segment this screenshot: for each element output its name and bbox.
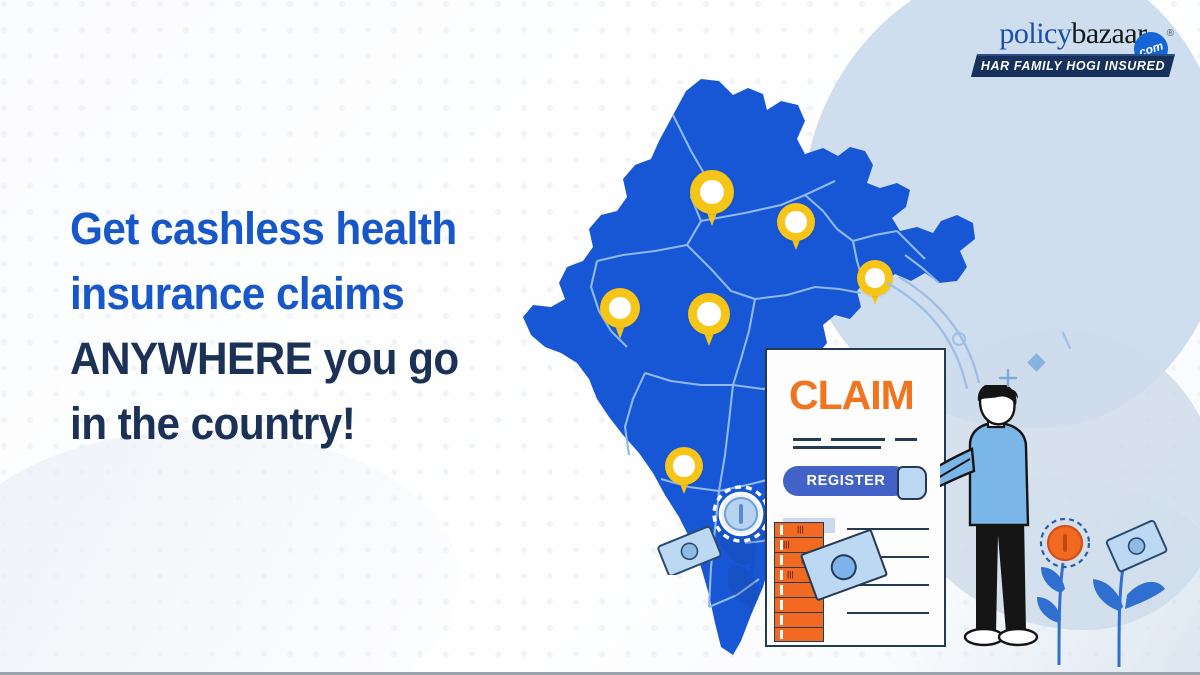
promo-banner: policybazaar com ® HAR FAMILY HOGI INSUR… bbox=[0, 0, 1200, 675]
register-button[interactable]: REGISTER bbox=[783, 466, 909, 496]
headline-emphasis: ANYWHERE bbox=[70, 333, 312, 384]
headline-line-3-rest: you go bbox=[312, 333, 458, 384]
pin-inner-circle bbox=[785, 211, 806, 232]
map-pin-north-east[interactable] bbox=[777, 203, 815, 241]
headline-line-3: ANYWHERE you go bbox=[70, 326, 512, 391]
book-1: ||| bbox=[774, 522, 824, 538]
headline-line-1: Get cashless health bbox=[70, 196, 512, 261]
headline-block: Get cashless health insurance claims ANY… bbox=[70, 196, 540, 456]
doc-dash-4 bbox=[793, 446, 881, 449]
register-button-label: REGISTER bbox=[807, 473, 886, 489]
claim-title: CLAIM bbox=[789, 372, 914, 419]
doc-line-4 bbox=[847, 612, 929, 614]
map-pin-central[interactable] bbox=[688, 293, 730, 335]
pointing-hand-icon bbox=[897, 466, 927, 500]
logo-policy-text: policy bbox=[999, 17, 1071, 50]
background-blob-soft bbox=[0, 430, 460, 675]
doc-dash-3 bbox=[895, 438, 917, 441]
circle-outline-icon bbox=[950, 330, 968, 348]
doc-dash-2 bbox=[831, 438, 885, 441]
book-7 bbox=[774, 612, 824, 628]
plus-sparkle-icon bbox=[998, 368, 1018, 388]
tick-sparkle-icon bbox=[1060, 330, 1074, 352]
doc-line-1 bbox=[847, 528, 929, 530]
headline-line-2: insurance claims bbox=[70, 261, 512, 326]
book-8 bbox=[774, 627, 824, 642]
map-pin-north[interactable] bbox=[690, 170, 734, 214]
banknote-circle bbox=[827, 551, 860, 584]
pin-inner-circle bbox=[697, 302, 721, 326]
registered-trademark-icon: ® bbox=[1167, 28, 1174, 39]
money-plants-illustration bbox=[1015, 505, 1175, 665]
map-pin-west[interactable] bbox=[600, 288, 640, 328]
doc-dash-1 bbox=[793, 438, 821, 441]
headline-line-4: in the country! bbox=[70, 391, 512, 456]
banknote-on-map-icon bbox=[655, 525, 717, 565]
